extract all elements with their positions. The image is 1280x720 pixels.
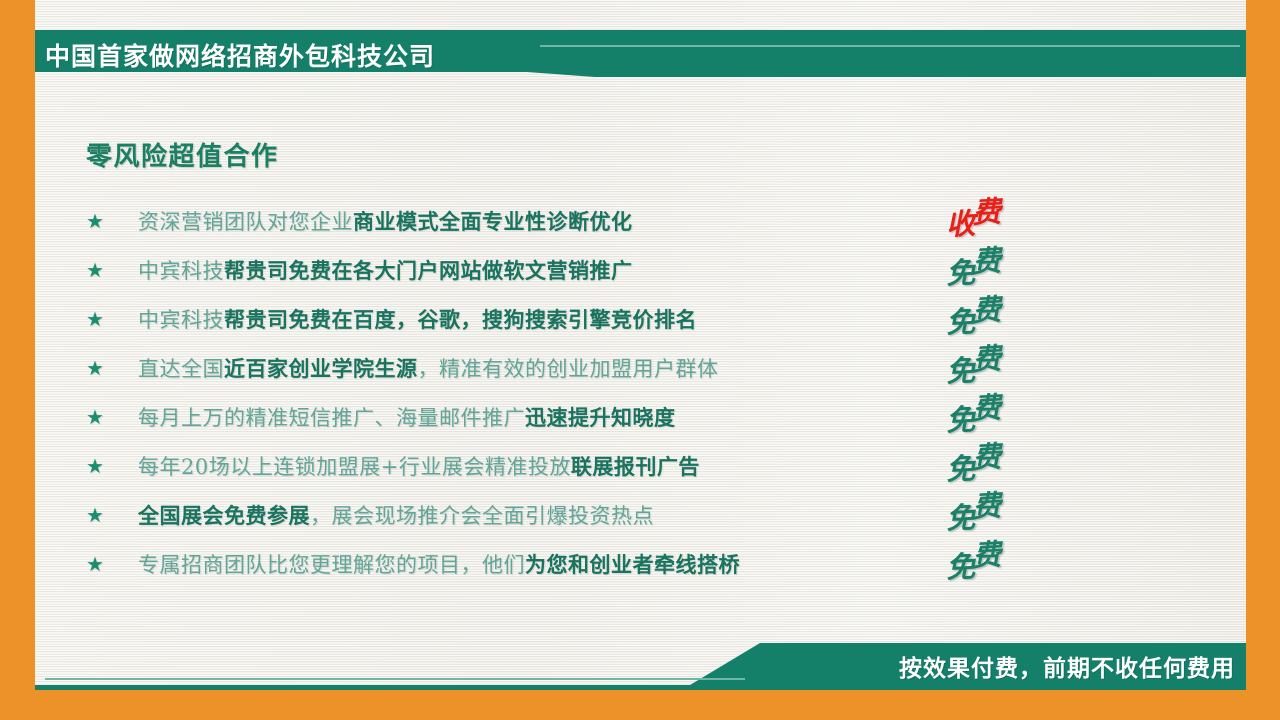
list-item: ★直达全国近百家创业学院生源，精准有效的创业加盟用户群体	[86, 343, 916, 392]
list-item-text-emphasis: 帮贵司免费在各大门户网站做软文营销推广	[224, 258, 633, 283]
list-item: ★资深营销团队对您企业商业模式全面专业性诊断优化	[86, 196, 916, 245]
price-badge-row: 免费	[946, 533, 1056, 582]
list-item: ★中宾科技帮贵司免费在各大门户网站做软文营销推广	[86, 245, 916, 294]
list-item-label: 每月上万的精准短信推广、海量邮件推广迅速提升知晓度	[138, 402, 676, 432]
star-icon: ★	[86, 211, 138, 231]
star-icon: ★	[86, 358, 138, 378]
status-badge-free: 免费	[946, 439, 1002, 481]
star-icon: ★	[86, 456, 138, 476]
badge-char-2: 费	[971, 531, 1001, 574]
list-item-text-plain: 每月上万的精准短信推广、海量邮件推广	[138, 406, 525, 430]
badge-char-2: 费	[971, 384, 1001, 427]
price-badge-row: 收费	[946, 190, 1056, 239]
badge-char-1: 免	[945, 249, 975, 292]
star-icon: ★	[86, 260, 138, 280]
list-item-text-plain: ，精准有效的创业加盟用户群体	[418, 357, 719, 381]
badge-char-2: 费	[971, 286, 1001, 329]
list-item-label: 全国展会免费参展，展会现场推介会全面引爆投资热点	[138, 500, 654, 530]
list-item-text-emphasis: 帮贵司免费在百度，谷歌，搜狗搜索引擎竞价排名	[224, 307, 697, 332]
star-icon: ★	[86, 554, 138, 574]
price-badge-row: 免费	[946, 239, 1056, 288]
list-item-label: 直达全国近百家创业学院生源，精准有效的创业加盟用户群体	[138, 353, 719, 383]
list-item-text-plain: 中宾科技	[138, 308, 224, 332]
price-badge-row: 免费	[946, 337, 1056, 386]
star-icon: ★	[86, 407, 138, 427]
slide-root: 中国首家做网络招商外包科技公司 零风险超值合作 ★资深营销团队对您企业商业模式全…	[0, 0, 1280, 720]
list-item-text-emphasis: 商业模式全面专业性诊断优化	[353, 209, 633, 234]
badge-char-1: 免	[945, 298, 975, 341]
benefit-list: ★资深营销团队对您企业商业模式全面专业性诊断优化★中宾科技帮贵司免费在各大门户网…	[86, 196, 916, 588]
list-item-text-plain: 每年20场以上连锁加盟展+行业展会精准投放	[138, 455, 571, 479]
list-item-text-emphasis: 联展报刊广告	[571, 454, 700, 479]
footer-tagline: 按效果付费，前期不收任何费用	[899, 649, 1235, 683]
price-badge-row: 免费	[946, 435, 1056, 484]
header-accent-line	[540, 45, 1240, 47]
status-badge-free: 免费	[946, 488, 1002, 530]
badge-char-1: 免	[945, 396, 975, 439]
badge-char-1: 免	[945, 494, 975, 537]
page-title: 零风险超值合作	[86, 136, 279, 173]
list-item-label: 中宾科技帮贵司免费在百度，谷歌，搜狗搜索引擎竞价排名	[138, 304, 697, 334]
list-item: ★全国展会免费参展，展会现场推介会全面引爆投资热点	[86, 490, 916, 539]
badge-char-2: 费	[971, 237, 1001, 280]
status-badge-free: 免费	[946, 537, 1002, 579]
status-badge-free: 免费	[946, 243, 1002, 285]
badge-char-2: 费	[971, 188, 1001, 231]
list-item: ★每月上万的精准短信推广、海量邮件推广迅速提升知晓度	[86, 392, 916, 441]
list-item: ★每年20场以上连锁加盟展+行业展会精准投放联展报刊广告	[86, 441, 916, 490]
list-item-text-emphasis: 近百家创业学院生源	[224, 356, 418, 381]
price-badge-column: 收费免费免费免费免费免费免费免费	[946, 190, 1056, 582]
status-badge-paid: 收费	[946, 194, 1002, 236]
badge-char-1: 免	[945, 543, 975, 586]
list-item-text-plain: 中宾科技	[138, 259, 224, 283]
price-badge-row: 免费	[946, 386, 1056, 435]
badge-char-2: 费	[971, 433, 1001, 476]
list-item-label: 中宾科技帮贵司免费在各大门户网站做软文营销推广	[138, 255, 633, 285]
list-item-text-emphasis: 迅速提升知晓度	[525, 405, 676, 430]
status-badge-free: 免费	[946, 390, 1002, 432]
price-badge-row: 免费	[946, 484, 1056, 533]
badge-char-1: 免	[945, 445, 975, 488]
list-item-label: 专属招商团队比您更理解您的项目，他们为您和创业者牵线搭桥	[138, 549, 740, 579]
badge-char-2: 费	[971, 482, 1001, 525]
list-item-label: 资深营销团队对您企业商业模式全面专业性诊断优化	[138, 206, 633, 236]
list-item-text-emphasis: 为您和创业者牵线搭桥	[525, 552, 740, 577]
list-item: ★中宾科技帮贵司免费在百度，谷歌，搜狗搜索引擎竞价排名	[86, 294, 916, 343]
list-item-text-plain: 直达全国	[138, 357, 224, 381]
badge-char-1: 收	[945, 200, 975, 243]
star-icon: ★	[86, 309, 138, 329]
price-badge-row: 免费	[946, 288, 1056, 337]
star-icon: ★	[86, 505, 138, 525]
list-item-text-plain: ，展会现场推介会全面引爆投资热点	[310, 504, 654, 528]
badge-char-1: 免	[945, 347, 975, 390]
list-item-text-emphasis: 全国展会免费参展	[138, 503, 310, 528]
list-item-text-plain: 资深营销团队对您企业	[138, 210, 353, 234]
status-badge-free: 免费	[946, 292, 1002, 334]
badge-char-2: 费	[971, 335, 1001, 378]
footer-accent-line	[45, 678, 745, 680]
list-item-text-plain: 专属招商团队比您更理解您的项目，他们	[138, 553, 525, 577]
header-title: 中国首家做网络招商外包科技公司	[45, 37, 435, 73]
list-item: ★专属招商团队比您更理解您的项目，他们为您和创业者牵线搭桥	[86, 539, 916, 588]
status-badge-free: 免费	[946, 341, 1002, 383]
list-item-label: 每年20场以上连锁加盟展+行业展会精准投放联展报刊广告	[138, 451, 700, 481]
